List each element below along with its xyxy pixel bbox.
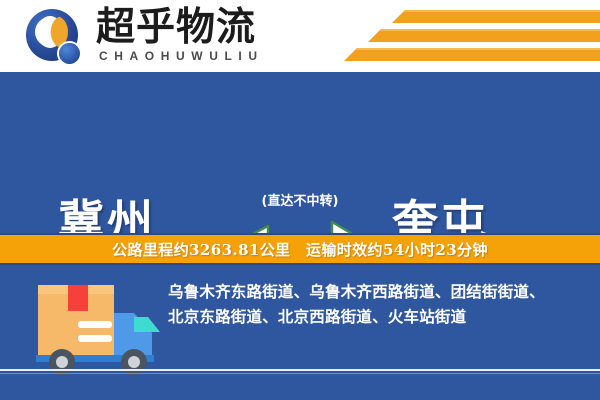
stripe-1 xyxy=(392,10,600,23)
stripe-2 xyxy=(368,29,600,42)
stripe-3 xyxy=(344,48,600,61)
logo-dot xyxy=(59,43,80,64)
chaohu-circle-logo-icon xyxy=(26,9,82,65)
logistics-route-banner: 超乎物流 CHAOHUWULIU 冀州 (直达不中转) 【往返运输】 奎屯 公路… xyxy=(0,0,600,400)
bottom-divider-shadow xyxy=(0,373,600,374)
distance-duration-bar: 公路里程约3263.81公里 运输时效约54小时23分钟 xyxy=(0,233,600,265)
direct-route-note: (直达不中转) xyxy=(230,190,370,209)
coverage-streets-panel: 乌鲁木齐东路街道、乌鲁木齐西路街道、团结街街道、 北京东路街道、北京西路街道、火… xyxy=(0,265,600,400)
delivery-truck-icon xyxy=(30,277,166,375)
distance-duration-text: 公路里程约3263.81公里 运输时效约54小时23分钟 xyxy=(112,239,488,260)
route-panel: 冀州 (直达不中转) 【往返运输】 奎屯 xyxy=(0,72,600,233)
bottom-divider-white xyxy=(0,369,600,371)
streets-list: 乌鲁木齐东路街道、乌鲁木齐西路街道、团结街街道、 北京东路街道、北京西路街道、火… xyxy=(168,279,588,329)
banner-header: 超乎物流 CHAOHUWULIU xyxy=(0,0,600,72)
brand-name-cn: 超乎物流 xyxy=(96,6,256,50)
decorative-stripes xyxy=(330,0,600,72)
brand-name-en: CHAOHUWULIU xyxy=(99,49,264,63)
streets-line-2: 北京东路街道、北京西路街道、火车站街道 xyxy=(168,304,588,329)
streets-line-1: 乌鲁木齐东路街道、乌鲁木齐西路街道、团结街街道、 xyxy=(168,279,588,304)
